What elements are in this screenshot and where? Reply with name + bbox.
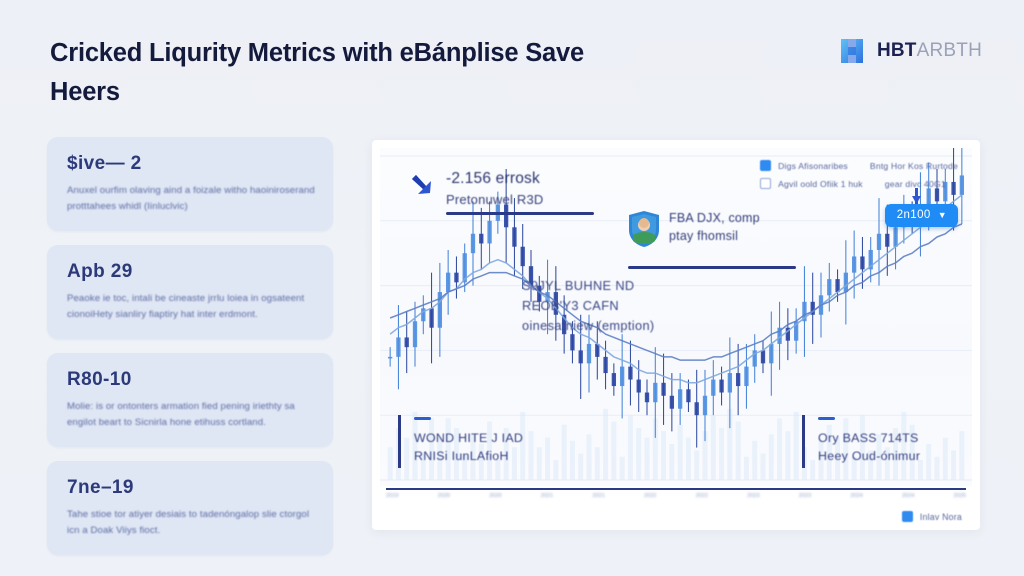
axis-tick-label: 2023 — [747, 493, 759, 502]
chevron-down-icon[interactable]: ▼ — [938, 211, 947, 220]
annotation-center-line2: REOB'Y3 CAFN — [522, 296, 655, 316]
annotation-dash-icon — [818, 417, 835, 420]
annotation-shield: FBA DJX, comp ptay fhomsil — [628, 210, 760, 248]
annotation-shield-underline — [628, 266, 796, 269]
metric-card-body: Molie: is or ontonters armation fied pen… — [67, 399, 315, 430]
annotation-headline: -2.156 errosk — [446, 170, 594, 188]
legend-item[interactable]: gear divc 40G1 — [885, 179, 946, 189]
page-title: Cricked Liqurity Metrics with eBánplise … — [50, 34, 610, 112]
annotation-bottom-left-text: WOND HITE J IAD RNISi IunLAfioH — [414, 429, 523, 466]
axis-tick-label: 2020 — [489, 493, 501, 502]
annotation-top-left: -2.156 errosk Pretonuwel R3D — [408, 170, 594, 215]
annotation-shield-line2: ptay fhomsil — [669, 228, 760, 246]
annotation-bottom-left: WOND HITE J IAD RNISi IunLAfioH — [398, 415, 523, 468]
down-arrow-icon — [408, 172, 438, 202]
metric-card-title: Apb 29 — [67, 261, 315, 283]
annotation-underline — [446, 212, 594, 215]
legend-swatch-filled-icon — [760, 160, 771, 171]
axis-tick-label: 2024 — [850, 493, 862, 502]
brand-secondary: ARBTH — [917, 40, 982, 61]
annotation-bl-line2: RNISi IunLAfioH — [414, 447, 523, 466]
chart-axis-ticks: 2019202020202021202120222022202320232024… — [386, 493, 966, 502]
metric-card[interactable]: $ive— 2 Anuxel ourfim olaving aind a foi… — [47, 137, 333, 231]
annotation-shield-text: FBA DJX, comp ptay fhomsil — [669, 210, 760, 246]
shield-badge-icon — [628, 210, 660, 248]
axis-tick-label: 2021 — [592, 493, 604, 502]
hbt-monogram-icon — [837, 36, 867, 66]
legend-label: Bntg Hor Kos Rurtode — [870, 161, 958, 171]
axis-tick-label: 2024 — [902, 493, 914, 502]
annotation-dash-icon — [414, 417, 431, 420]
value-badge[interactable]: 2n100 ▼ — [885, 204, 958, 227]
chart-plot-area[interactable]: -2.156 errosk Pretonuwel R3D FBA DJX, co… — [380, 148, 972, 486]
metric-card[interactable]: R80-10 Molie: is or ontonters armation f… — [47, 353, 333, 447]
value-badge-value: 2n100 — [897, 209, 931, 221]
brand-logo: HBTARBTH — [837, 36, 982, 66]
chart-legend-top[interactable]: Digs Afisonaribes Bntg Hor Kos Rurtode A… — [760, 160, 958, 189]
annotation-center-line3: oinesatniew (emption) — [522, 316, 655, 336]
axis-tick-label: 2022 — [696, 493, 708, 502]
legend-swatch-outline-icon — [760, 178, 771, 189]
legend-label: gear divc 40G1 — [885, 179, 946, 189]
legend-item[interactable]: Agvil oold Ofiik 1 huk — [760, 178, 863, 189]
legend-swatch-filled-icon — [902, 511, 913, 522]
annotation-subline: Pretonuwel R3D — [446, 192, 594, 207]
legend-row: Agvil oold Ofiik 1 huk gear divc 40G1 — [760, 178, 958, 189]
axis-tick-label: 2020 — [438, 493, 450, 502]
axis-tick-label: 2022 — [644, 493, 656, 502]
brand-wordmark: HBTARBTH — [877, 40, 982, 62]
brand-primary: HBT — [877, 40, 917, 61]
metric-card-body: Tahe stioe tor atiyer desiais to tadenón… — [67, 507, 315, 538]
annotation-bottom-right: Ory BASS 714TS Heey Oud-ónimur — [802, 415, 920, 468]
metric-card-title: R80-10 — [67, 369, 315, 391]
legend-item[interactable]: Digs Afisonaribes — [760, 160, 848, 171]
annotation-bottom-right-text: Ory BASS 714TS Heey Oud-ónimur — [818, 429, 920, 466]
legend-row: Digs Afisonaribes Bntg Hor Kos Rurtode — [760, 160, 958, 171]
annotation-shield-line1: FBA DJX, comp — [669, 210, 760, 228]
chart-legend-bottom[interactable]: Inlav Nora — [902, 511, 962, 522]
axis-tick-label: 2023 — [799, 493, 811, 502]
metric-card[interactable]: 7ne–19 Tahe stioe tor atiyer desiais to … — [47, 461, 333, 555]
axis-tick-label: 2025 — [954, 493, 966, 502]
metric-card-list: $ive— 2 Anuxel ourfim olaving aind a foi… — [47, 137, 333, 555]
slide-root: Cricked Liqurity Metrics with eBánplise … — [0, 0, 1024, 576]
metric-card-body: Peaoke ie toc, intali be cineaste jrrlu … — [67, 291, 315, 322]
legend-label: Inlav Nora — [920, 512, 962, 522]
axis-tick-label: 2019 — [386, 493, 398, 502]
legend-label: Digs Afisonaribes — [778, 161, 848, 171]
annotation-bl-line1: WOND HITE J IAD — [414, 429, 523, 448]
metric-card-title: $ive— 2 — [67, 153, 315, 175]
annotation-br-line2: Heey Oud-ónimur — [818, 447, 920, 466]
metric-card[interactable]: Apb 29 Peaoke ie toc, intali be cineaste… — [47, 245, 333, 339]
chart-axis-rule — [386, 488, 966, 491]
annotation-br-line1: Ory BASS 714TS — [818, 429, 920, 448]
chart-panel[interactable]: -2.156 errosk Pretonuwel R3D FBA DJX, co… — [372, 140, 980, 530]
annotation-center-line1: S9JYL BUHNE ND — [522, 276, 655, 296]
legend-item[interactable]: Bntg Hor Kos Rurtode — [870, 161, 958, 171]
annotation-center: S9JYL BUHNE ND REOB'Y3 CAFN oinesatniew … — [522, 276, 655, 337]
axis-tick-label: 2021 — [541, 493, 553, 502]
metric-card-title: 7ne–19 — [67, 477, 315, 499]
metric-card-body: Anuxel ourfim olaving aind a foizale wit… — [67, 183, 315, 214]
legend-label: Agvil oold Ofiik 1 huk — [778, 179, 863, 189]
